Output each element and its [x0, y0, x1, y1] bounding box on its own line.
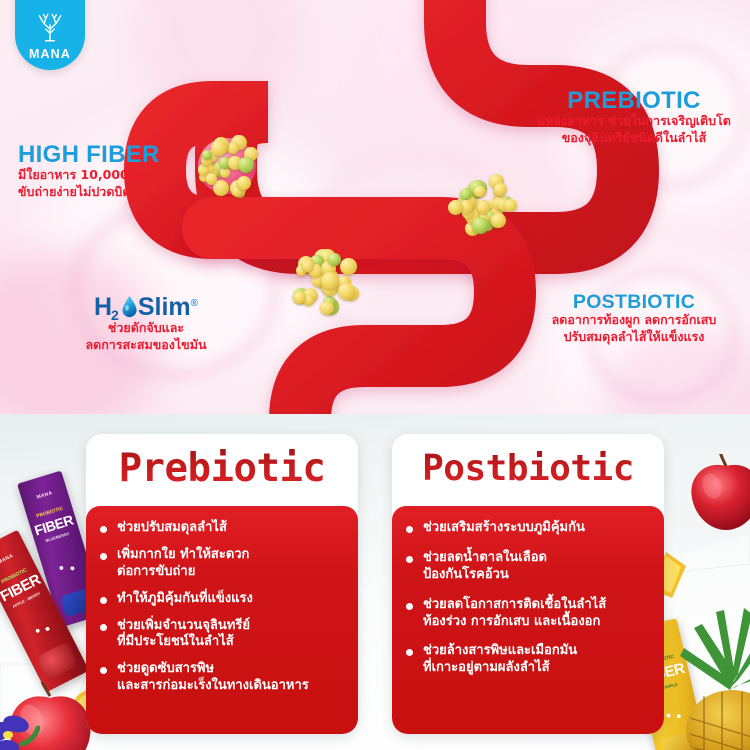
microbe-cluster-icon	[292, 252, 358, 314]
card-title: Prebiotic	[86, 434, 358, 496]
list-item: ทำให้ภูมิคุ้มกันที่แข็งแรง	[98, 591, 348, 608]
list-item: ช่วยปรับสมดุลลำไส้	[98, 520, 348, 537]
infographic-canvas: MANA HIGH FIBER มีใยอาหาร 10,000 มก. ขับ…	[0, 0, 750, 750]
callout-line-1: ลดอาการท้องผูก ลดการอักเสบ	[526, 312, 742, 329]
list-item: ช่วยดูดซับสารพิษและสารก่อมะเร็งในทางเดิน…	[98, 661, 348, 695]
callout-line-2: ปรับสมดุลลำไส้ให้แข็งแรง	[526, 329, 742, 346]
callout-caption: POSTBIOTIC	[526, 292, 742, 312]
list-item: ช่วยลดโอกาสการติดเชื้อในลำไส้ท้องร่วง กา…	[404, 597, 654, 631]
bullet-list: ช่วยเสริมสร้างระบบภูมิคุ้มกัน ช่วยลดน้ำต…	[404, 520, 654, 677]
callout-caption: PREBIOTIC	[526, 88, 742, 113]
list-item: เพิ่มกากใย ทำให้สะดวกต่อการขับถ่าย	[98, 547, 348, 581]
card-postbiotic[interactable]: Postbiotic ช่วยเสริมสร้างระบบภูมิคุ้มกัน…	[392, 434, 664, 734]
list-item: ช่วยลดน้ำตาลในเลือดป้องกันโรคอ้วน	[404, 550, 654, 584]
callout-prebiotic: PREBIOTIC แหล่งอาหาร ช่วยในการเจริญเติบโ…	[526, 88, 742, 146]
bullet-list: ช่วยปรับสมดุลลำไส้ เพิ่มกากใย ทำให้สะดวก…	[98, 520, 348, 695]
callout-line-2: ขับถ่ายง่ายไม่ปวดบิด	[18, 184, 160, 201]
h2slim-subscript: 2	[111, 308, 119, 322]
microbe-cluster-icon	[196, 136, 262, 198]
registered-mark: ®	[191, 299, 198, 309]
h2slim-h: H	[94, 295, 112, 320]
callout-postbiotic: POSTBIOTIC ลดอาการท้องผูก ลดการอักเสบ ปร…	[526, 292, 742, 345]
brand-name: MANA	[29, 47, 71, 61]
callout-line-2: ของจุลินทรีย์ชนิดดีในลำไส้	[526, 130, 742, 147]
bottom-benefits-section: MANA PROBIOTIC FIBER BLUEBERRY MANA PROB…	[0, 414, 750, 750]
callout-caption: HIGH FIBER	[18, 142, 160, 167]
card-prebiotic[interactable]: Prebiotic ช่วยปรับสมดุลลำไส้ เพิ่มกากใย …	[86, 434, 358, 734]
brand-logo-badge[interactable]: MANA	[15, 0, 85, 70]
list-item: ช่วยล้างสารพิษและเมือกมันที่เกาะอยู่ตามผ…	[404, 643, 654, 677]
tree-icon	[33, 11, 67, 45]
top-illustration-section: MANA HIGH FIBER มีใยอาหาร 10,000 มก. ขับ…	[0, 0, 750, 414]
card-bullet-panel: ช่วยเสริมสร้างระบบภูมิคุ้มกัน ช่วยลดน้ำต…	[392, 506, 664, 734]
callout-high-fiber: HIGH FIBER มีใยอาหาร 10,000 มก. ขับถ่ายง…	[18, 142, 160, 200]
list-item: ช่วยเสริมสร้างระบบภูมิคุ้มกัน	[404, 520, 654, 537]
callout-line-2: ลดการสะสมของไขมัน	[58, 337, 234, 354]
h2slim-slim: Slim	[138, 295, 191, 320]
card-bullet-panel: ช่วยปรับสมดุลลำไส้ เพิ่มกากใย ทำให้สะดวก…	[86, 506, 358, 734]
callout-line-1: แหล่งอาหาร ช่วยในการเจริญเติบโต	[526, 113, 742, 130]
list-item: ช่วยเพิ่มจำนวนจุลินทรีย์ที่มีประโยชน์ในล…	[98, 618, 348, 652]
microbe-cluster-icon	[450, 173, 514, 233]
callout-line-1: ช่วยดักจับและ	[58, 320, 234, 337]
callout-line-1: มีใยอาหาร 10,000 มก.	[18, 167, 160, 184]
card-title: Postbiotic	[392, 434, 664, 496]
h2slim-logotype: H 2 Slim ®	[58, 292, 234, 320]
water-drop-icon	[121, 295, 138, 318]
callout-h2slim: H 2 Slim ® ช่วยดักจับและ ลดการสะสมของไขม…	[58, 292, 234, 353]
